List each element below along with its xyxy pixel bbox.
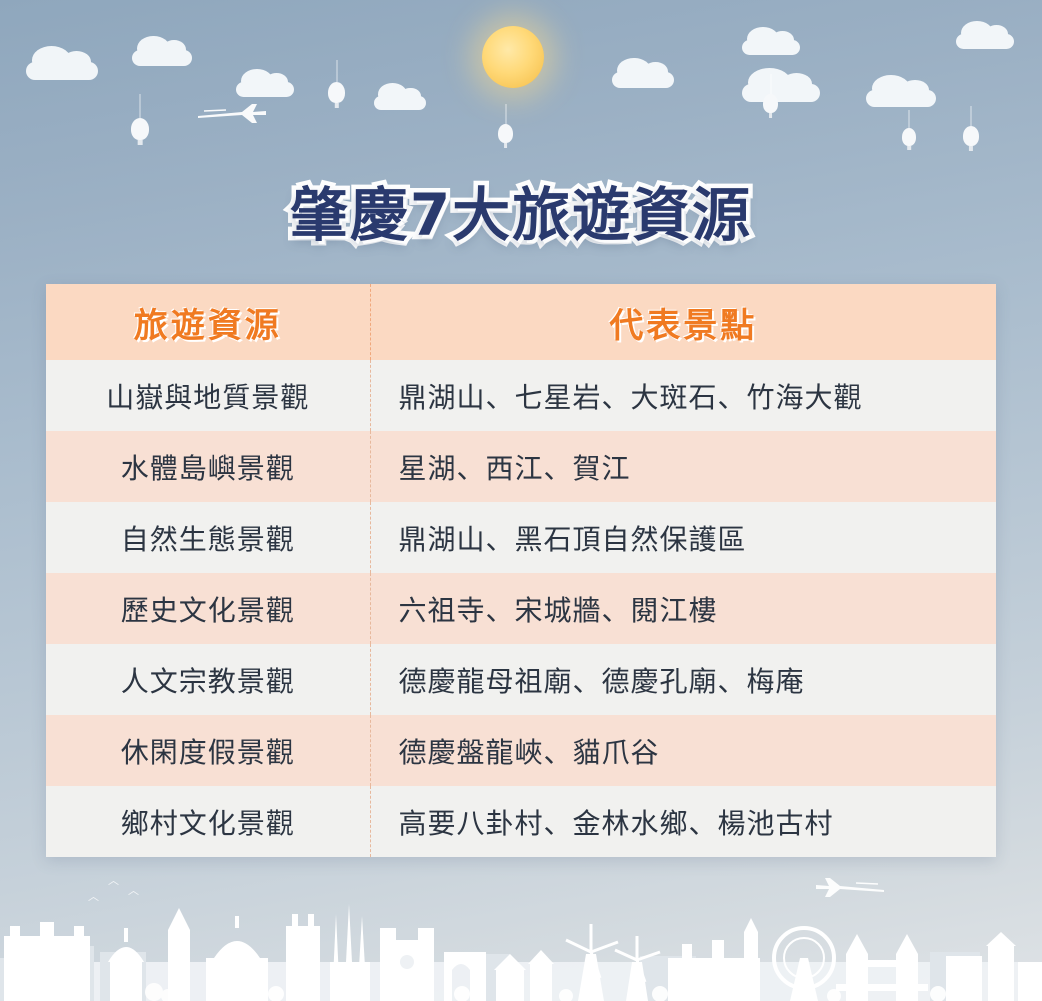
- cell-resource: 鄉村文化景觀: [46, 786, 370, 857]
- hot-air-balloon-icon: [763, 94, 778, 113]
- cell-spots: 六祖寺、宋城牆、閱江樓: [370, 573, 996, 644]
- cell-spots: 德慶龍母祖廟、德慶孔廟、梅庵: [370, 644, 996, 715]
- cloud-icon: [236, 82, 294, 97]
- cloud-icon: [612, 72, 674, 88]
- airplane-icon: [196, 100, 268, 126]
- cloud-icon: [26, 62, 98, 80]
- cell-spots: 德慶盤龍峽、貓爪谷: [370, 715, 996, 786]
- cell-spots: 星湖、西江、賀江: [370, 431, 996, 502]
- tourism-resources-table: 旅遊資源 代表景點 山嶽與地質景觀 鼎湖山、七星岩、大斑石、竹海大觀 水體島嶼景…: [46, 284, 996, 857]
- cell-resource: 歷史文化景觀: [46, 573, 370, 644]
- hot-air-balloon-icon: [902, 128, 916, 146]
- table-row: 鄉村文化景觀 高要八卦村、金林水鄉、楊池古村: [46, 786, 996, 857]
- cloud-icon: [956, 34, 1014, 49]
- hot-air-balloon-icon: [328, 82, 345, 103]
- cell-resource: 山嶽與地質景觀: [46, 360, 370, 431]
- cell-resource: 人文宗教景觀: [46, 644, 370, 715]
- table-row: 山嶽與地質景觀 鼎湖山、七星岩、大斑石、竹海大觀: [46, 360, 996, 431]
- cell-resource: 自然生態景觀: [46, 502, 370, 573]
- page-title: 肇慶7大旅遊資源: [290, 168, 752, 252]
- cloud-icon: [742, 40, 800, 55]
- cloud-icon: [374, 96, 426, 110]
- column-header-spots: 代表景點: [370, 284, 996, 360]
- cell-resource: 休閑度假景觀: [46, 715, 370, 786]
- sun-icon: [482, 26, 544, 88]
- table-row: 水體島嶼景觀 星湖、西江、賀江: [46, 431, 996, 502]
- page-title-container: 肇慶7大旅遊資源: [0, 168, 1042, 252]
- city-skyline-illustration: [0, 866, 1042, 1001]
- hot-air-balloon-icon: [498, 124, 513, 143]
- cell-resource: 水體島嶼景觀: [46, 431, 370, 502]
- cell-spots: 鼎湖山、七星岩、大斑石、竹海大觀: [370, 360, 996, 431]
- table-row: 歷史文化景觀 六祖寺、宋城牆、閱江樓: [46, 573, 996, 644]
- table-header-row: 旅遊資源 代表景點: [46, 284, 996, 360]
- hot-air-balloon-icon: [963, 126, 979, 146]
- hot-air-balloon-icon: [131, 118, 149, 140]
- table-row: 人文宗教景觀 德慶龍母祖廟、德慶孔廟、梅庵: [46, 644, 996, 715]
- table-row: 休閑度假景觀 德慶盤龍峽、貓爪谷: [46, 715, 996, 786]
- cell-spots: 鼎湖山、黑石頂自然保護區: [370, 502, 996, 573]
- column-header-resource: 旅遊資源: [46, 284, 370, 360]
- table-row: 自然生態景觀 鼎湖山、黑石頂自然保護區: [46, 502, 996, 573]
- cell-spots: 高要八卦村、金林水鄉、楊池古村: [370, 786, 996, 857]
- cloud-icon: [866, 90, 936, 107]
- cloud-icon: [742, 84, 820, 102]
- cloud-icon: [132, 50, 192, 66]
